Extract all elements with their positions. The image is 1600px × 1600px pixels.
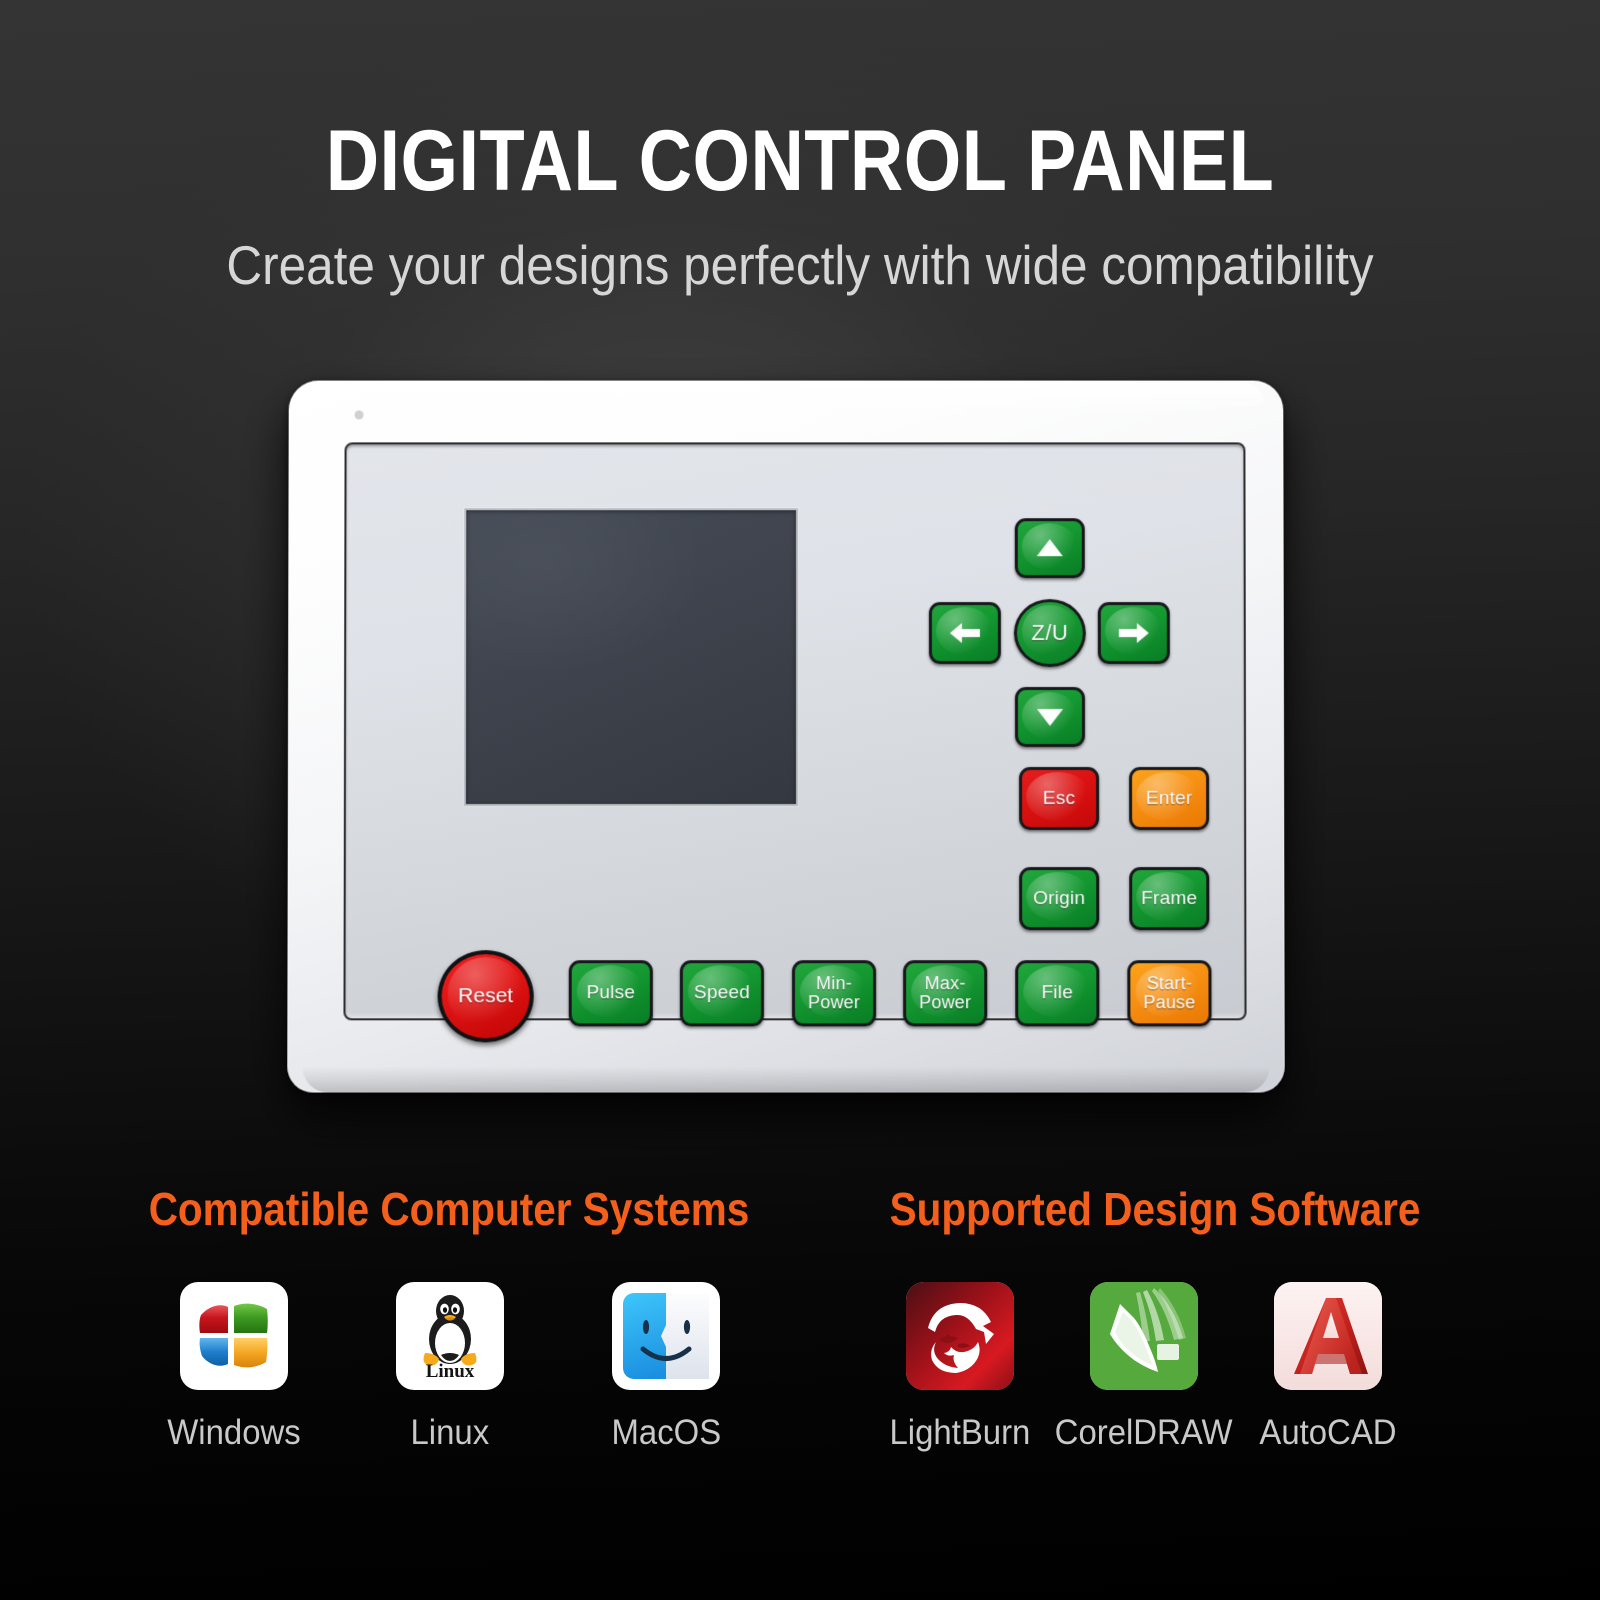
software-label-lightburn: LightBurn — [890, 1413, 1031, 1453]
software-item-coreldraw[interactable]: CorelDRAW — [1060, 1282, 1228, 1453]
coreldraw-balloon-icon — [1090, 1282, 1198, 1390]
min-power-label: Min-Power — [808, 975, 860, 1013]
file-label: File — [1042, 983, 1073, 1003]
lcd-screen[interactable] — [464, 508, 798, 806]
product-marketing-image: DIGITAL CONTROL PANEL Create your design… — [0, 0, 1600, 1600]
software-item-lightburn[interactable]: LightBurn — [876, 1282, 1044, 1453]
supported-software-heading: Supported Design Software — [851, 1186, 1458, 1232]
origin-button[interactable]: Origin — [1019, 867, 1099, 930]
esc-button[interactable]: Esc — [1019, 767, 1099, 830]
dpad-zu-button[interactable]: Z/U — [1014, 599, 1086, 667]
dpad-down-button[interactable] — [1015, 687, 1085, 747]
os-label-windows: Windows — [167, 1413, 300, 1453]
pulse-label: Pulse — [587, 983, 636, 1003]
software-icon-row: LightBurn CorelDRAW — [876, 1282, 1412, 1453]
lightburn-dragon-icon — [906, 1282, 1014, 1390]
software-label-autocad: AutoCAD — [1259, 1413, 1396, 1453]
start-pause-button[interactable]: Start-Pause — [1127, 960, 1211, 1026]
frame-label: Frame — [1141, 889, 1197, 909]
max-power-button[interactable]: Max-Power — [903, 960, 987, 1026]
down-arrow-icon — [1035, 705, 1065, 729]
device-bezel: Z/U Esc — [287, 381, 1285, 1093]
os-item-windows[interactable]: Windows — [150, 1282, 318, 1453]
esc-label: Esc — [1043, 789, 1075, 809]
left-arrow-icon — [948, 620, 982, 646]
compatible-systems-heading: Compatible Computer Systems — [145, 1186, 752, 1232]
dpad-up-button[interactable] — [1015, 518, 1085, 578]
max-power-label: Max-Power — [919, 975, 971, 1013]
enter-button[interactable]: Enter — [1129, 767, 1209, 830]
speed-button[interactable]: Speed — [680, 960, 764, 1026]
device-faceplate: Z/U Esc — [343, 442, 1246, 1020]
page-title: DIGITAL CONTROL PANEL — [112, 118, 1488, 204]
right-arrow-icon — [1117, 620, 1151, 646]
reset-label: Reset — [458, 984, 513, 1008]
dpad-zu-label: Z/U — [1031, 620, 1068, 646]
os-label-macos: MacOS — [611, 1413, 721, 1453]
os-item-linux[interactable]: Linux Linux — [366, 1282, 534, 1453]
os-label-linux: Linux — [411, 1413, 490, 1453]
macos-finder-icon — [612, 1282, 720, 1390]
file-button[interactable]: File — [1015, 960, 1099, 1026]
dpad-left-button[interactable] — [929, 602, 1001, 664]
os-icon-row: Windows Linux — [150, 1282, 750, 1453]
pulse-button[interactable]: Pulse — [569, 960, 653, 1026]
origin-label: Origin — [1033, 889, 1085, 909]
frame-button[interactable]: Frame — [1129, 867, 1209, 930]
reset-button[interactable]: Reset — [438, 950, 534, 1042]
autocad-a-icon — [1274, 1282, 1382, 1390]
software-label-coreldraw: CorelDRAW — [1055, 1413, 1233, 1453]
windows-logo-icon — [180, 1282, 288, 1390]
software-item-autocad[interactable]: AutoCAD — [1244, 1282, 1412, 1453]
min-power-button[interactable]: Min-Power — [792, 960, 876, 1026]
linux-penguin-icon: Linux — [396, 1282, 504, 1390]
up-arrow-icon — [1035, 536, 1065, 560]
os-item-macos[interactable]: MacOS — [582, 1282, 750, 1453]
page-subtitle: Create your designs perfectly with wide … — [80, 238, 1520, 293]
dpad-right-button[interactable] — [1098, 602, 1170, 664]
speed-label: Speed — [694, 983, 750, 1003]
control-panel-device: Z/U Esc — [288, 380, 1284, 1092]
enter-label: Enter — [1146, 789, 1192, 809]
start-pause-label: Start-Pause — [1143, 975, 1195, 1013]
bezel-bottom-shade — [302, 1066, 1270, 1092]
svg-text:Linux: Linux — [426, 1361, 475, 1379]
bezel-screw-dot — [355, 410, 364, 419]
